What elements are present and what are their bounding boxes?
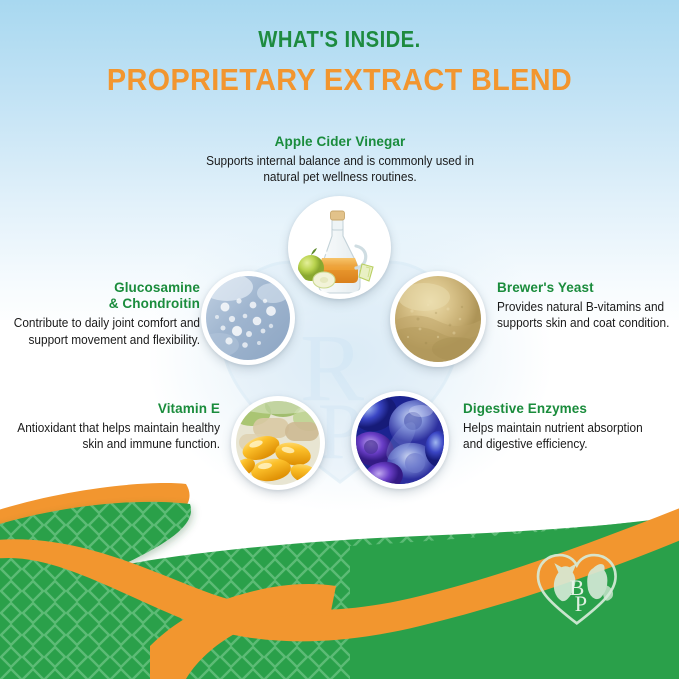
apple-cider-vinegar-bottle-photo: [288, 196, 391, 299]
blue-droplets-gel-photo: [201, 271, 295, 365]
ingredient-name-brewers-yeast: Brewer's Yeast: [497, 280, 679, 297]
ingredient-name-line1: Glucosamine: [114, 280, 200, 295]
ingredient-text-glucosamine-chondroitin: Glucosamine & Chondroitin Contribute to …: [0, 280, 200, 348]
logo-monogram-p: P: [575, 591, 587, 616]
ingredient-name-line2: & Chondroitin: [109, 296, 200, 311]
ingredient-name-vitamin-e: Vitamin E: [4, 401, 220, 418]
main-heading: PROPRIETARY EXTRACT BLEND: [24, 62, 655, 98]
green-orange-swoosh-banner: B P: [0, 470, 679, 679]
ingredient-text-brewers-yeast: Brewer's Yeast Provides natural B-vitami…: [497, 280, 679, 332]
ingredient-text-digestive-enzymes: Digestive Enzymes Helps maintain nutrien…: [463, 401, 675, 453]
page-title: WHAT'S INSIDE. PROPRIETARY EXTRACT BLEND: [0, 26, 679, 98]
ingredient-name-digestive-enzymes: Digestive Enzymes: [463, 401, 675, 418]
tan-yeast-powder-photo: [390, 271, 486, 367]
ingredient-description-apple-cider-vinegar: Supports internal balance and is commonl…: [190, 153, 491, 186]
ingredient-name-apple-cider-vinegar: Apple Cider Vinegar: [180, 134, 500, 151]
ingredient-description-brewers-yeast: Provides natural B-vitamins and supports…: [497, 299, 676, 332]
ingredient-description-glucosamine-chondroitin: Contribute to daily joint comfort and su…: [10, 315, 200, 348]
ingredient-text-vitamin-e: Vitamin E Antioxidant that helps maintai…: [4, 401, 220, 453]
eyebrow-heading: WHAT'S INSIDE.: [41, 26, 639, 53]
ingredient-name-glucosamine-chondroitin: Glucosamine & Chondroitin: [0, 280, 200, 313]
ingredient-text-apple-cider-vinegar: Apple Cider Vinegar Supports internal ba…: [180, 134, 500, 186]
ingredient-image-brewers-yeast: [390, 271, 486, 367]
ingredient-image-glucosamine-chondroitin: [201, 271, 295, 365]
infographic-canvas: R P WHAT'S INSIDE. PROPRIETARY EXTRACT B…: [0, 0, 679, 679]
ingredient-description-vitamin-e: Antioxidant that helps maintain healthy …: [17, 420, 220, 453]
ingredient-image-apple-cider-vinegar: [288, 196, 391, 299]
ingredient-description-digestive-enzymes: Helps maintain nutrient absorption and d…: [463, 420, 662, 453]
